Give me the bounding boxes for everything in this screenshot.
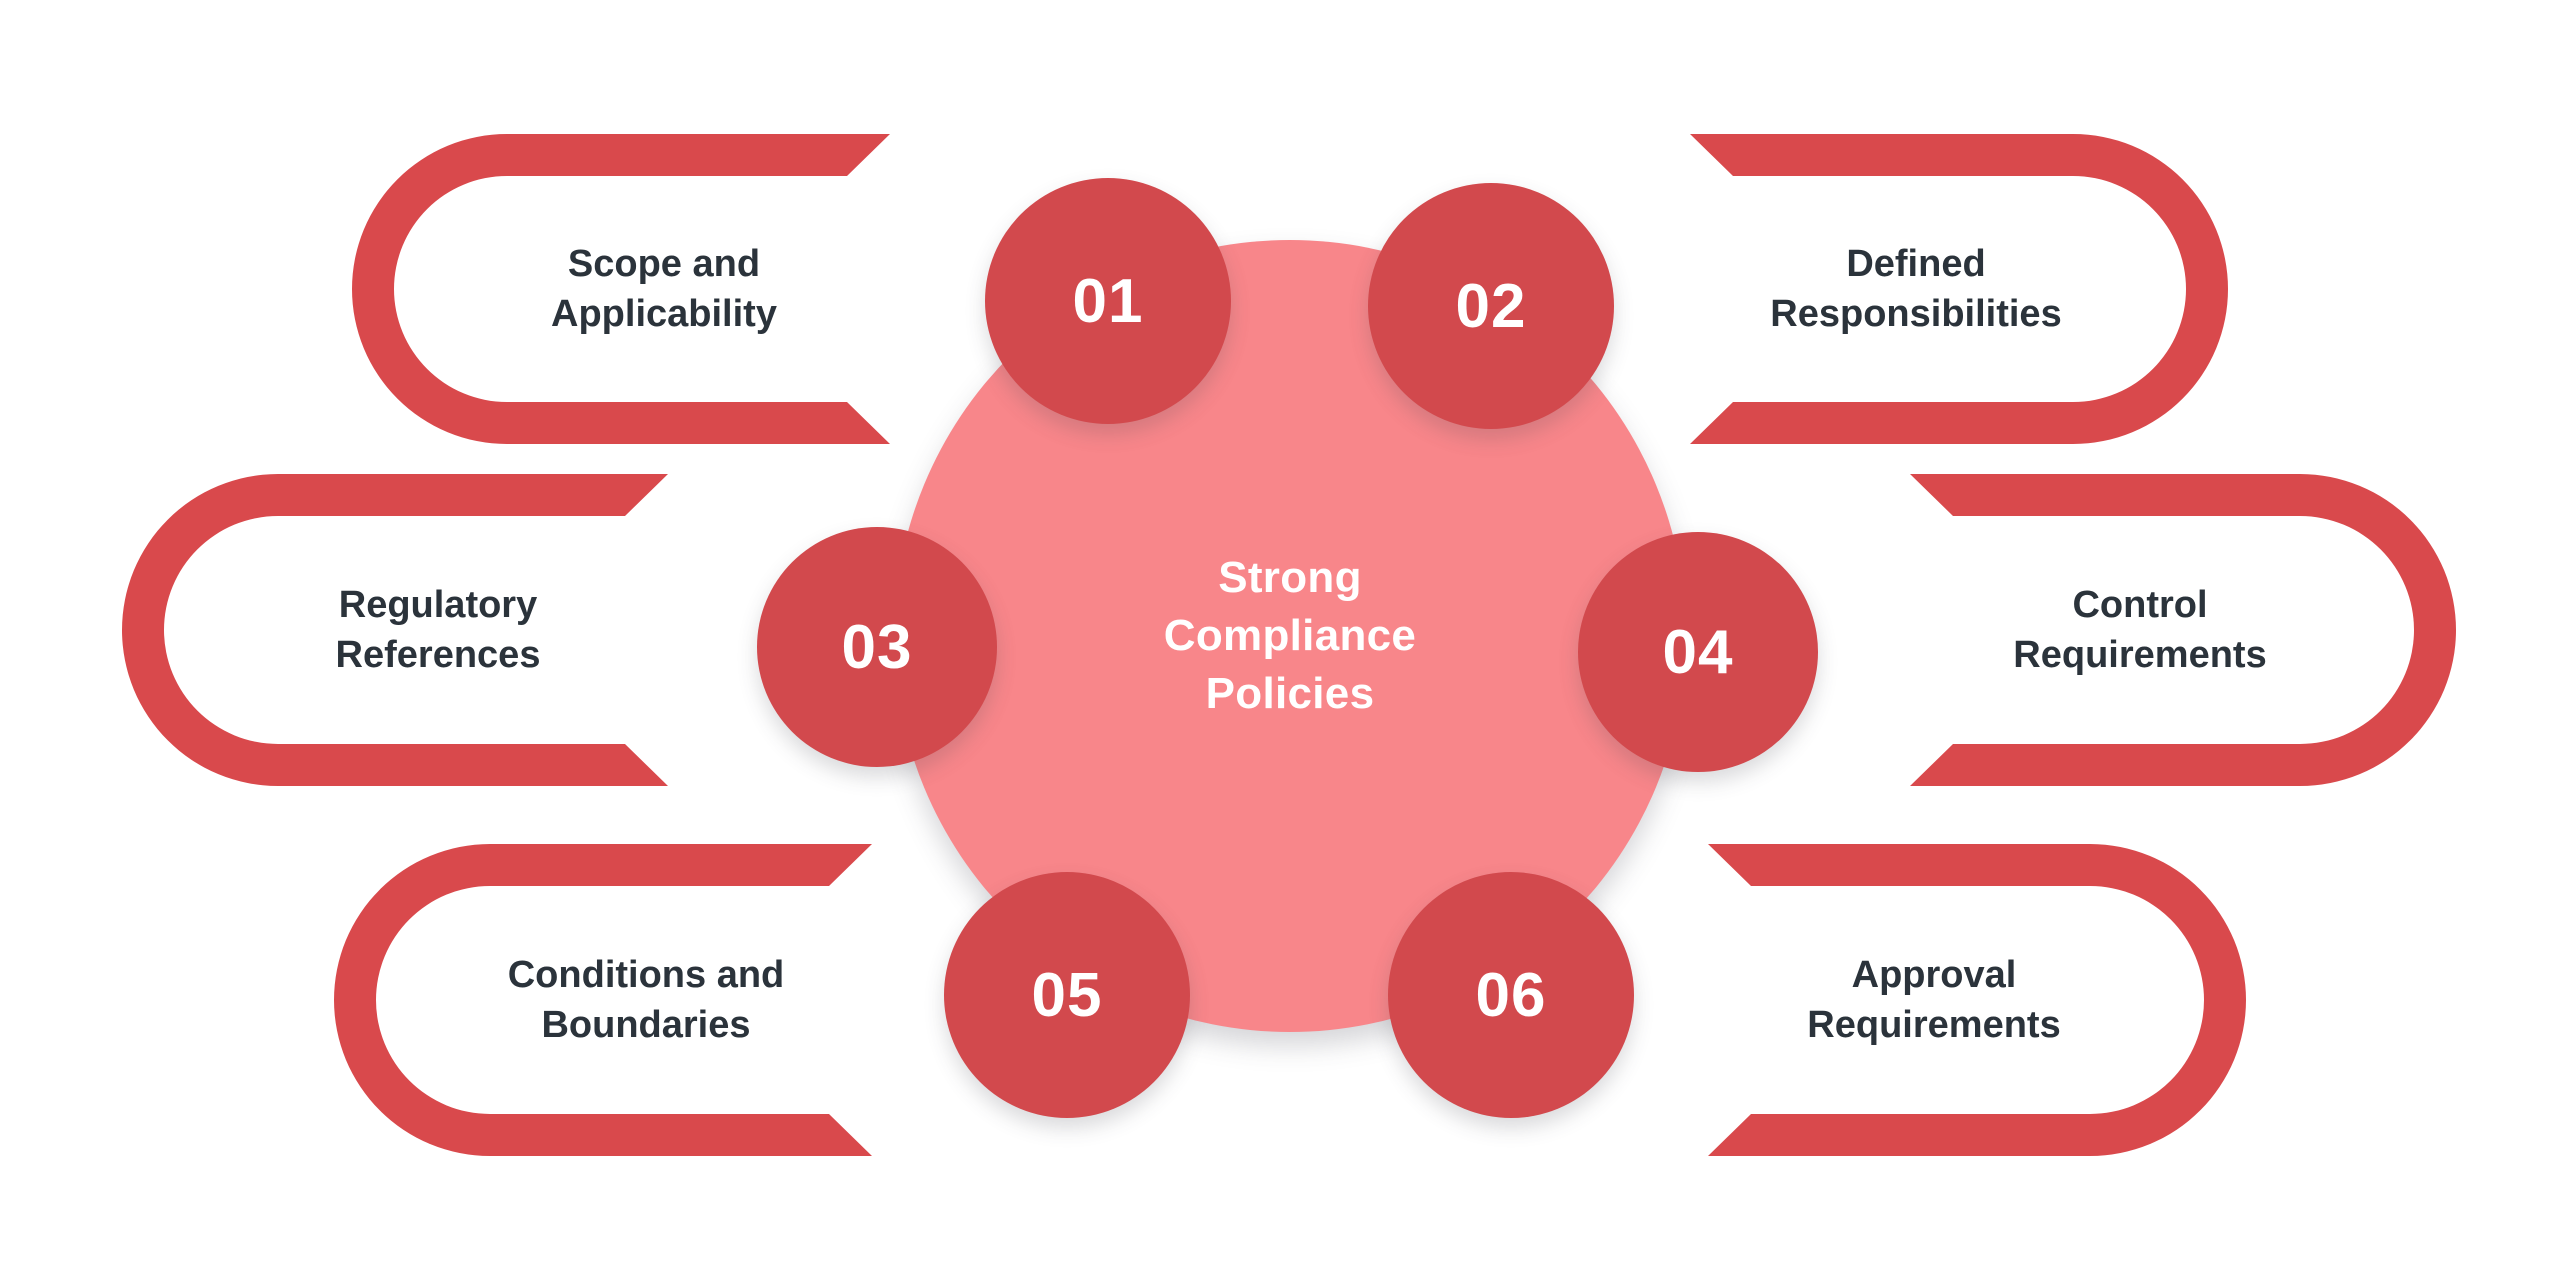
item-label-01: Scope and Applicability	[472, 134, 856, 444]
number-badge-05-text: 05	[1032, 960, 1103, 1031]
number-badge-01[interactable]: 01	[985, 178, 1231, 424]
number-badge-03[interactable]: 03	[757, 527, 997, 767]
item-label-04: Control Requirements	[1944, 474, 2336, 786]
item-card-06[interactable]: Approval Requirements	[1706, 844, 2246, 1156]
item-label-03: Regulatory References	[242, 474, 634, 786]
number-badge-05[interactable]: 05	[944, 872, 1190, 1118]
number-badge-03-text: 03	[842, 612, 913, 683]
item-card-02[interactable]: Defined Responsibilities	[1688, 134, 2228, 444]
item-label-06: Approval Requirements	[1742, 844, 2126, 1156]
item-label-05: Conditions and Boundaries	[454, 844, 838, 1156]
infographic-canvas: Strong Compliance Policies Scope and App…	[0, 0, 2560, 1277]
number-badge-02-text: 02	[1456, 271, 1527, 342]
item-card-01[interactable]: Scope and Applicability	[352, 134, 892, 444]
item-card-03[interactable]: Regulatory References	[122, 474, 670, 786]
number-badge-06[interactable]: 06	[1388, 872, 1634, 1118]
item-card-04[interactable]: Control Requirements	[1908, 474, 2456, 786]
number-badge-01-text: 01	[1073, 266, 1144, 337]
item-card-05[interactable]: Conditions and Boundaries	[334, 844, 874, 1156]
number-badge-02[interactable]: 02	[1368, 183, 1614, 429]
number-badge-04-text: 04	[1663, 617, 1734, 688]
center-hub-title: Strong Compliance Policies	[1164, 549, 1416, 723]
number-badge-06-text: 06	[1476, 960, 1547, 1031]
item-label-02: Defined Responsibilities	[1724, 134, 2108, 444]
number-badge-04[interactable]: 04	[1578, 532, 1818, 772]
